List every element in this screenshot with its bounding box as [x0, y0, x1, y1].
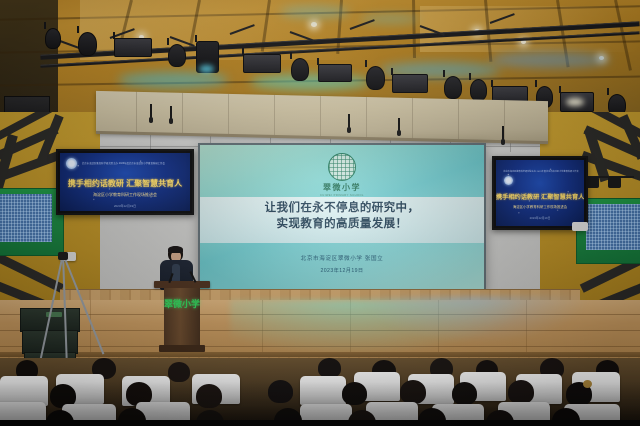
side-display-left: 北京市海淀区教育科学研究院主办 2023年度北京市海淀区小学教育科研工作会 携手…	[56, 149, 194, 215]
podium-body: 翠微小学	[164, 288, 200, 346]
school-emblem-icon	[66, 158, 77, 169]
side-display-right-banner: 北京市海淀区教育科学研究院主办 2023年度北京市海淀区小学教育科研工作会	[500, 170, 582, 173]
main-projection-screen: 翠微小学 CUIWEI PRIMARY SCHOOL 让我们在永不停息的研究中，…	[198, 143, 486, 291]
hanging-microphone	[502, 126, 504, 142]
blue-grid-panel-left	[0, 194, 52, 242]
side-display-left-title: 携手相约话教研 汇聚智慧共育人	[60, 178, 190, 189]
side-display-left-footer: 2023年12月19日	[60, 204, 190, 208]
hanging-microphone	[150, 104, 152, 120]
side-display-right-footer: 2023年12月19日	[496, 216, 584, 220]
presenter-hair	[168, 246, 183, 253]
hanging-microphone	[170, 106, 172, 121]
side-display-left-subtitle: 海淀区小学教育科研工作现场推进会	[60, 192, 190, 198]
podium: 翠微小学	[158, 281, 206, 355]
school-emblem-icon	[504, 176, 513, 185]
podium-top	[154, 281, 210, 288]
ceiling-projector-right	[572, 222, 588, 231]
hanging-microphone	[398, 118, 400, 133]
podium-base	[159, 345, 205, 352]
side-display-right: 北京市海淀区教育科学研究院主办 2023年度北京市海淀区小学教育科研工作会 携手…	[492, 156, 588, 230]
stage-accent-glow-blue	[360, 296, 590, 344]
hanging-microphone	[348, 114, 350, 130]
blue-grid-panel-right	[586, 204, 640, 250]
podium-label: 翠微小学	[164, 299, 200, 309]
side-display-right-title: 携手相约话教研 汇聚智慧共育人	[496, 192, 584, 201]
auditorium-screenshot: 北京市海淀区教育科学研究院主办 2023年度北京市海淀区小学教育科研工作会 携手…	[0, 0, 640, 426]
side-display-right-subtitle: 海淀区小学教育科研工作现场推进会	[496, 204, 584, 209]
microphone-stand-tripod	[28, 254, 98, 364]
side-display-left-banner: 北京市海淀区教育科学研究院主办 2023年度北京市海淀区小学教育科研工作会	[82, 161, 165, 165]
audience-shadow-overlay	[0, 358, 640, 426]
frame-bottom-bar	[0, 420, 640, 426]
